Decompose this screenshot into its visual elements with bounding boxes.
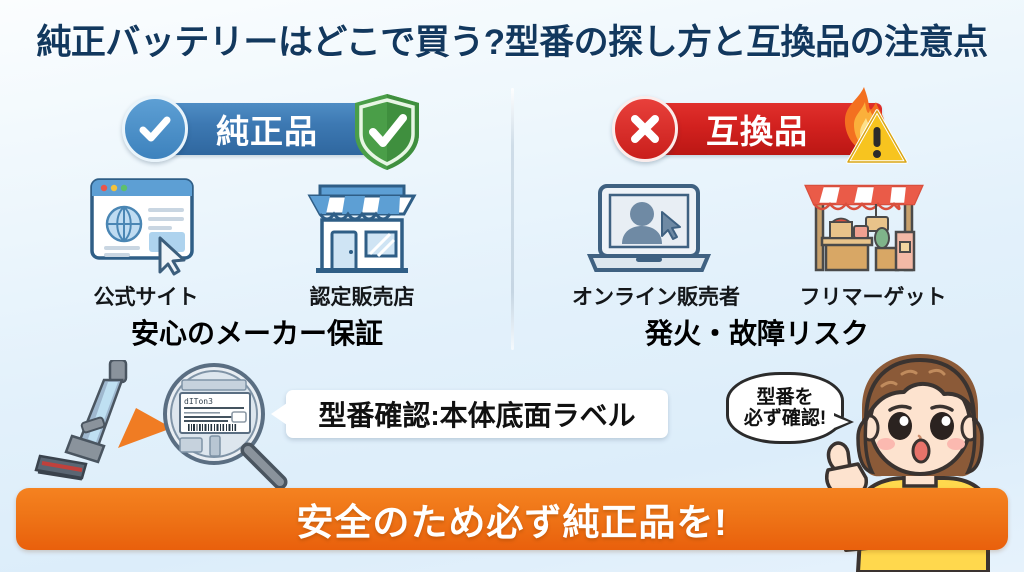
bubble-line-2: 必ず確認! xyxy=(744,408,826,429)
right-summary: 発火・故障リスク xyxy=(552,312,962,352)
x-circle-icon xyxy=(612,96,678,162)
magnifier-label-barcode-icon: dITon3 xyxy=(158,362,290,488)
compatible-badge-label: 互換品 xyxy=(706,105,808,153)
column-divider xyxy=(511,88,514,350)
market-stall-icon xyxy=(798,172,930,276)
browser-window-globe-icon xyxy=(86,172,206,276)
bottom-banner-text: 安全のため必ず純正品を! xyxy=(296,492,727,546)
warning-triangle-icon xyxy=(846,108,908,166)
laptop-person-icon xyxy=(584,182,714,278)
bottom-banner: 安全のため必ず純正品を! xyxy=(16,488,1008,550)
caption-authorized-dealer: 認定販売店 xyxy=(262,281,462,311)
infographic-canvas: 純正バッテリーはどこで買う?型番の探し方と互換品の注意点 純正品 xyxy=(0,0,1024,572)
caption-flea-market: フリマーゲット xyxy=(773,281,973,311)
bubble-line-1: 型番を xyxy=(756,387,813,408)
model-number-callout-text: 型番確認:本体底面ラベル xyxy=(318,394,635,434)
check-circle-icon xyxy=(122,96,188,162)
caption-online-seller: オンライン販売者 xyxy=(549,281,763,311)
label-model-text: dITon3 xyxy=(184,397,213,406)
page-title: 純正バッテリーはどこで買う?型番の探し方と互換品の注意点 xyxy=(0,14,1024,65)
left-summary: 安心のメーカー保証 xyxy=(52,312,462,352)
storefront-icon xyxy=(300,170,424,276)
genuine-badge-label: 純正品 xyxy=(216,105,318,153)
caption-official-site: 公式サイト xyxy=(46,281,246,311)
shield-check-icon xyxy=(351,92,423,172)
model-number-callout: 型番確認:本体底面ラベル xyxy=(286,390,668,438)
